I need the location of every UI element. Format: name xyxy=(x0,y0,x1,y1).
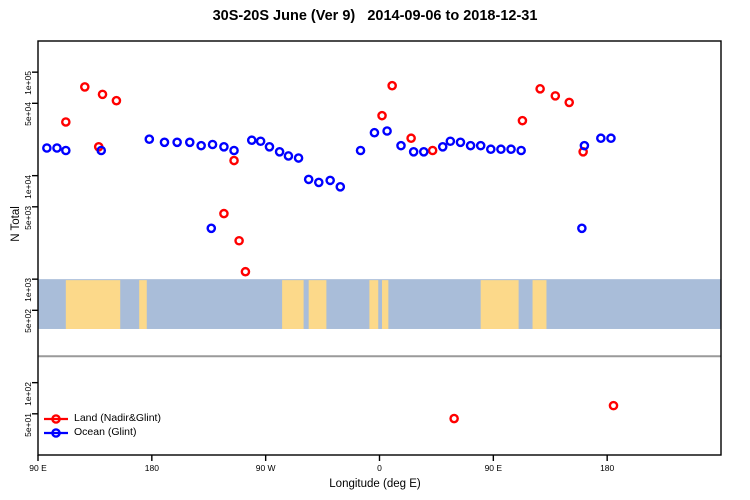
data-point xyxy=(198,142,205,149)
data-point xyxy=(607,135,614,142)
data-point xyxy=(257,138,264,145)
series-land xyxy=(62,82,617,422)
x-tick-label: 180 xyxy=(577,463,637,473)
x-tick-label: 90 E xyxy=(463,463,523,473)
x-tick-label: 180 xyxy=(122,463,182,473)
data-point xyxy=(295,154,302,161)
data-point xyxy=(337,183,344,190)
x-tick-label: 90 E xyxy=(8,463,68,473)
data-point xyxy=(99,91,106,98)
data-point xyxy=(439,143,446,150)
data-point xyxy=(53,144,60,151)
data-point xyxy=(43,144,50,151)
x-tick-label: 90 W xyxy=(236,463,296,473)
surface-band xyxy=(38,279,721,329)
data-point xyxy=(597,135,604,142)
legend-label: Ocean (Glint) xyxy=(74,426,136,438)
data-point xyxy=(518,147,525,154)
data-point xyxy=(467,142,474,149)
y-tick-label: 1e+05 xyxy=(23,71,33,111)
data-point xyxy=(378,112,385,119)
data-point xyxy=(327,177,334,184)
data-point xyxy=(186,139,193,146)
data-point xyxy=(383,127,390,134)
data-point xyxy=(477,142,484,149)
data-point xyxy=(537,85,544,92)
data-point xyxy=(397,142,404,149)
data-point xyxy=(208,225,215,232)
data-point xyxy=(305,176,312,183)
data-point xyxy=(242,268,249,275)
data-point xyxy=(230,147,237,154)
data-point xyxy=(113,97,120,104)
data-point xyxy=(410,148,417,155)
data-point xyxy=(429,147,436,154)
data-point xyxy=(408,135,415,142)
data-point xyxy=(236,237,243,244)
data-point xyxy=(220,210,227,217)
data-point xyxy=(389,82,396,89)
data-point xyxy=(447,138,454,145)
data-point xyxy=(357,147,364,154)
data-point xyxy=(248,137,255,144)
data-point xyxy=(81,83,88,90)
data-point xyxy=(578,225,585,232)
series-ocean xyxy=(43,127,614,231)
y-tick-label: 1e+03 xyxy=(23,278,33,318)
data-point xyxy=(276,148,283,155)
legend-label: Land (Nadir&Glint) xyxy=(74,412,161,424)
data-point xyxy=(220,143,227,150)
data-point xyxy=(581,142,588,149)
data-point xyxy=(315,179,322,186)
data-point xyxy=(230,157,237,164)
x-tick-label: 0 xyxy=(350,463,410,473)
data-point xyxy=(62,147,69,154)
data-point xyxy=(161,139,168,146)
data-point xyxy=(610,402,617,409)
chart-figure: 30S-20S June (Ver 9) 2014-09-06 to 2018-… xyxy=(0,0,750,500)
data-point xyxy=(209,141,216,148)
plot-area xyxy=(0,0,750,500)
data-point xyxy=(420,148,427,155)
data-point xyxy=(566,99,573,106)
data-point xyxy=(457,139,464,146)
y-tick-label: 1e+04 xyxy=(23,175,33,215)
data-point xyxy=(266,143,273,150)
data-point xyxy=(451,415,458,422)
data-point xyxy=(507,146,514,153)
data-point xyxy=(487,146,494,153)
data-point xyxy=(371,129,378,136)
data-point xyxy=(519,117,526,124)
data-point xyxy=(174,139,181,146)
data-point xyxy=(285,152,292,159)
data-point xyxy=(552,92,559,99)
axis-frame xyxy=(38,41,721,455)
y-tick-label: 1e+02 xyxy=(23,382,33,422)
data-point xyxy=(497,146,504,153)
data-point xyxy=(62,118,69,125)
data-point xyxy=(146,136,153,143)
